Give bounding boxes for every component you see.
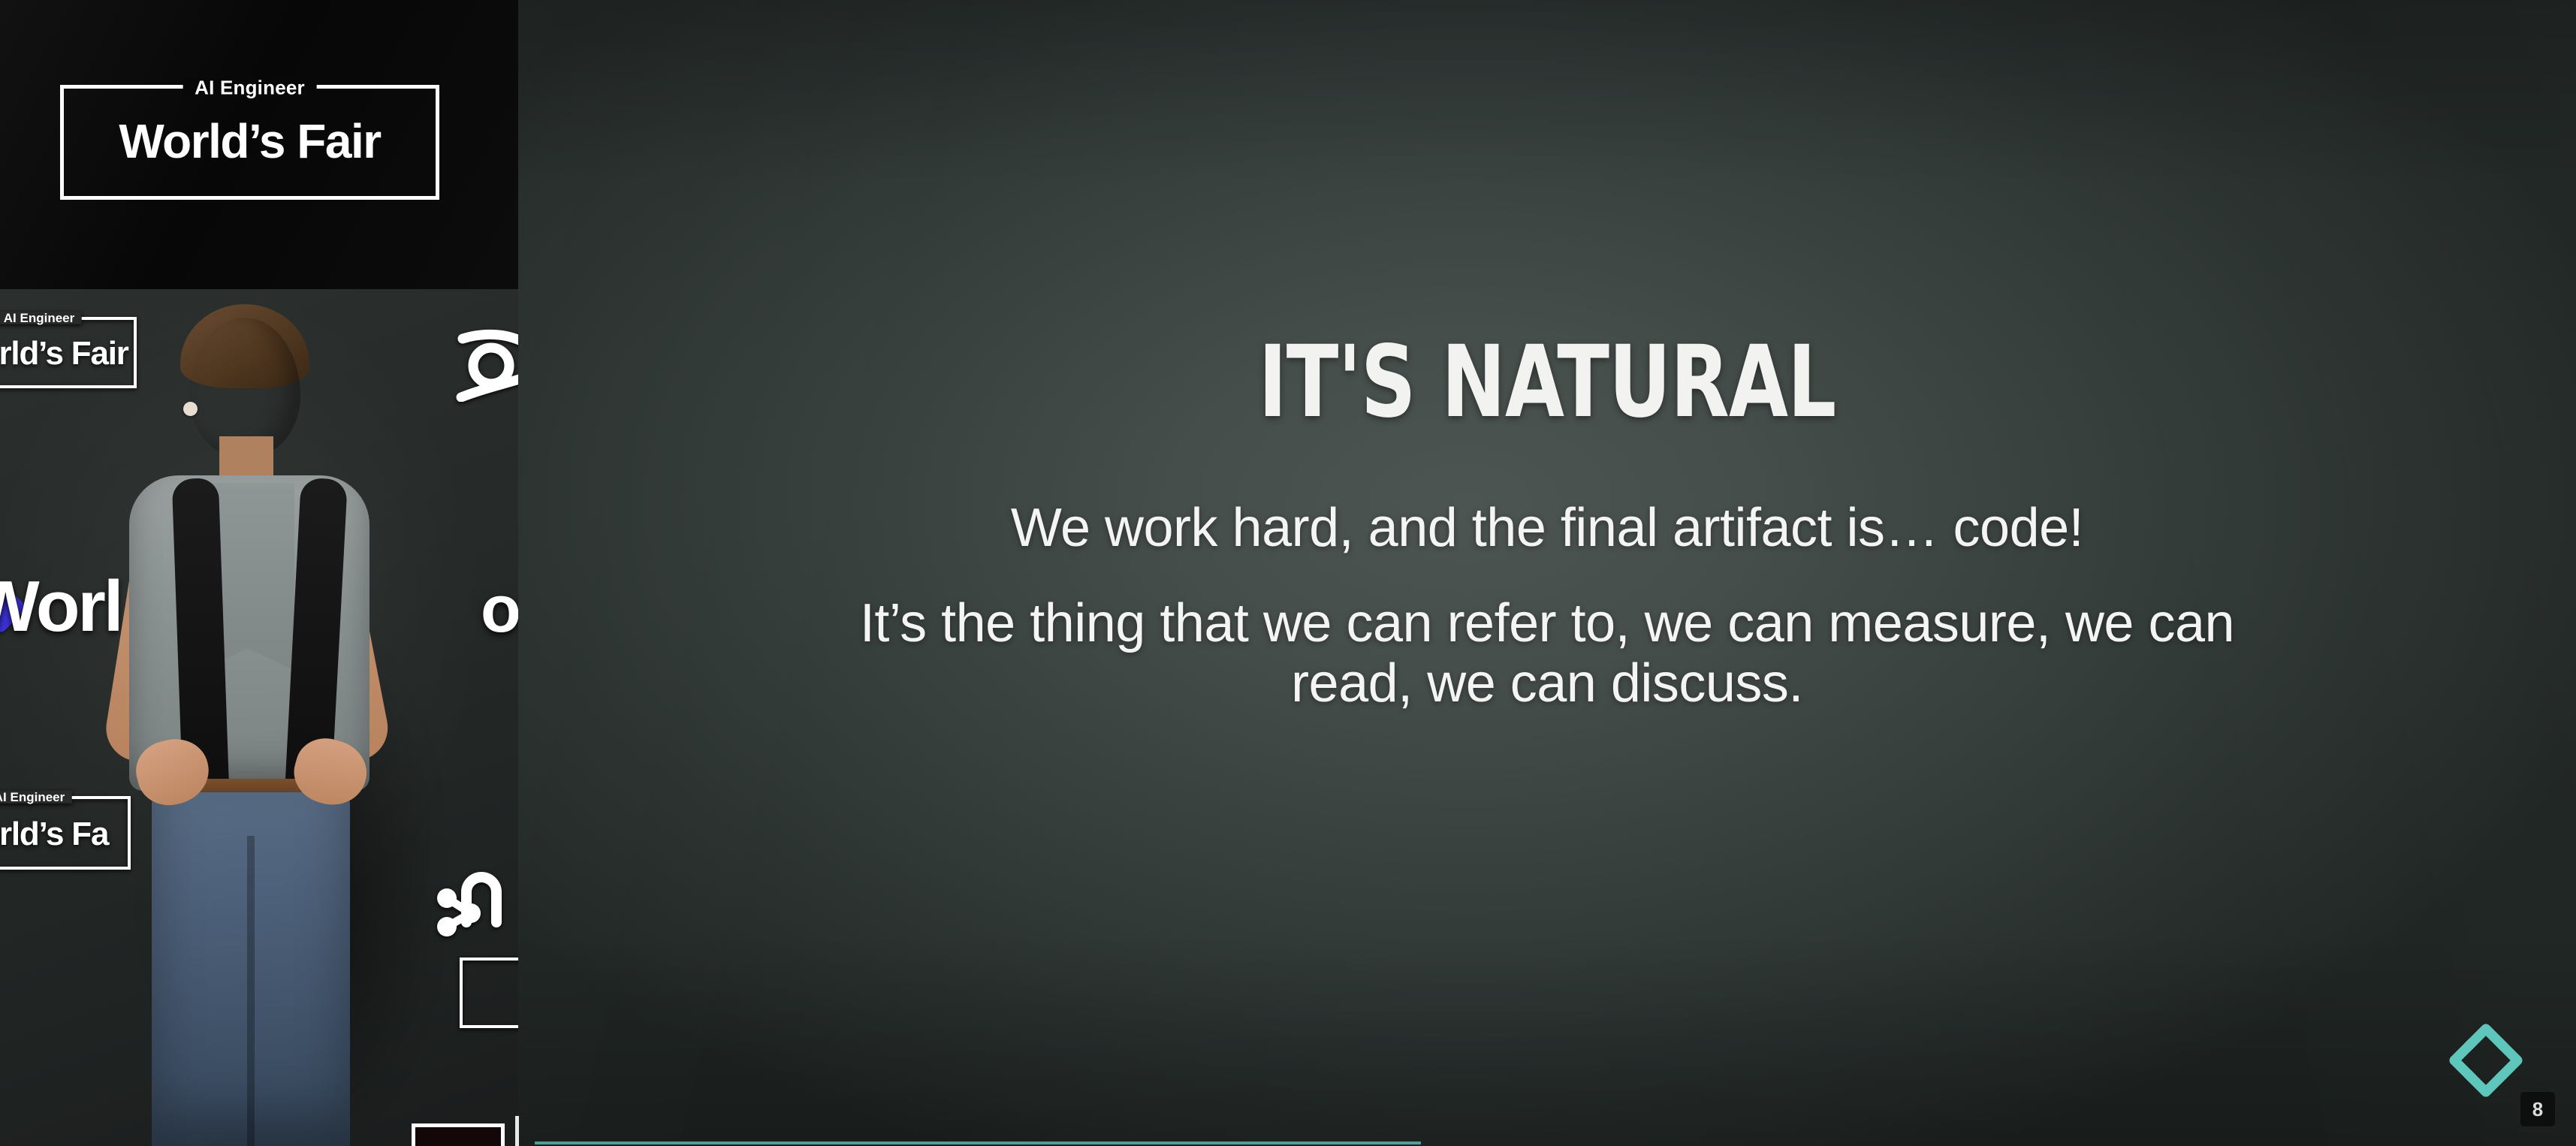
speaker-earset-microphone-icon (183, 402, 198, 416)
speaker-jeans (152, 792, 350, 1146)
bottom-accent-rule (535, 1141, 1421, 1144)
bottom-divider-tick (515, 1116, 519, 1146)
speaker-video-panel: AI Engineer World’s Fair AI Engineer Wor… (0, 0, 518, 1146)
event-logo-wordmark: World’s Fair (117, 113, 382, 173)
slide-paragraph-1: We work hard, and the final artifact is…… (774, 432, 2321, 559)
corner-badge: 8 (2520, 1092, 2555, 1126)
stage-camera-shot: AI Engineer World’s Fair AI Engineer Wor… (0, 289, 518, 1146)
backdrop-wordmark-right: on (481, 576, 518, 642)
backdrop-logo-right: A (460, 958, 518, 1028)
event-logo: AI Engineer World’s Fair (60, 85, 439, 200)
speaker-figure (30, 289, 451, 1146)
sponsor-smile-icon (451, 319, 518, 402)
event-logo-kicker: AI Engineer (182, 77, 317, 97)
slide-surface: IT'S NATURAL We work hard, and the final… (518, 0, 2576, 1146)
bottom-logo-fragment (412, 1123, 505, 1146)
slide-title: IT'S NATURAL (662, 0, 2432, 432)
slide-paragraph-2: It’s the thing that we can refer to, we … (804, 559, 2291, 714)
event-logo-band: AI Engineer World’s Fair (0, 0, 518, 289)
slide-content: IT'S NATURAL We work hard, and the final… (518, 0, 2576, 714)
presentation-screenshot: IT'S NATURAL We work hard, and the final… (0, 0, 2576, 1146)
